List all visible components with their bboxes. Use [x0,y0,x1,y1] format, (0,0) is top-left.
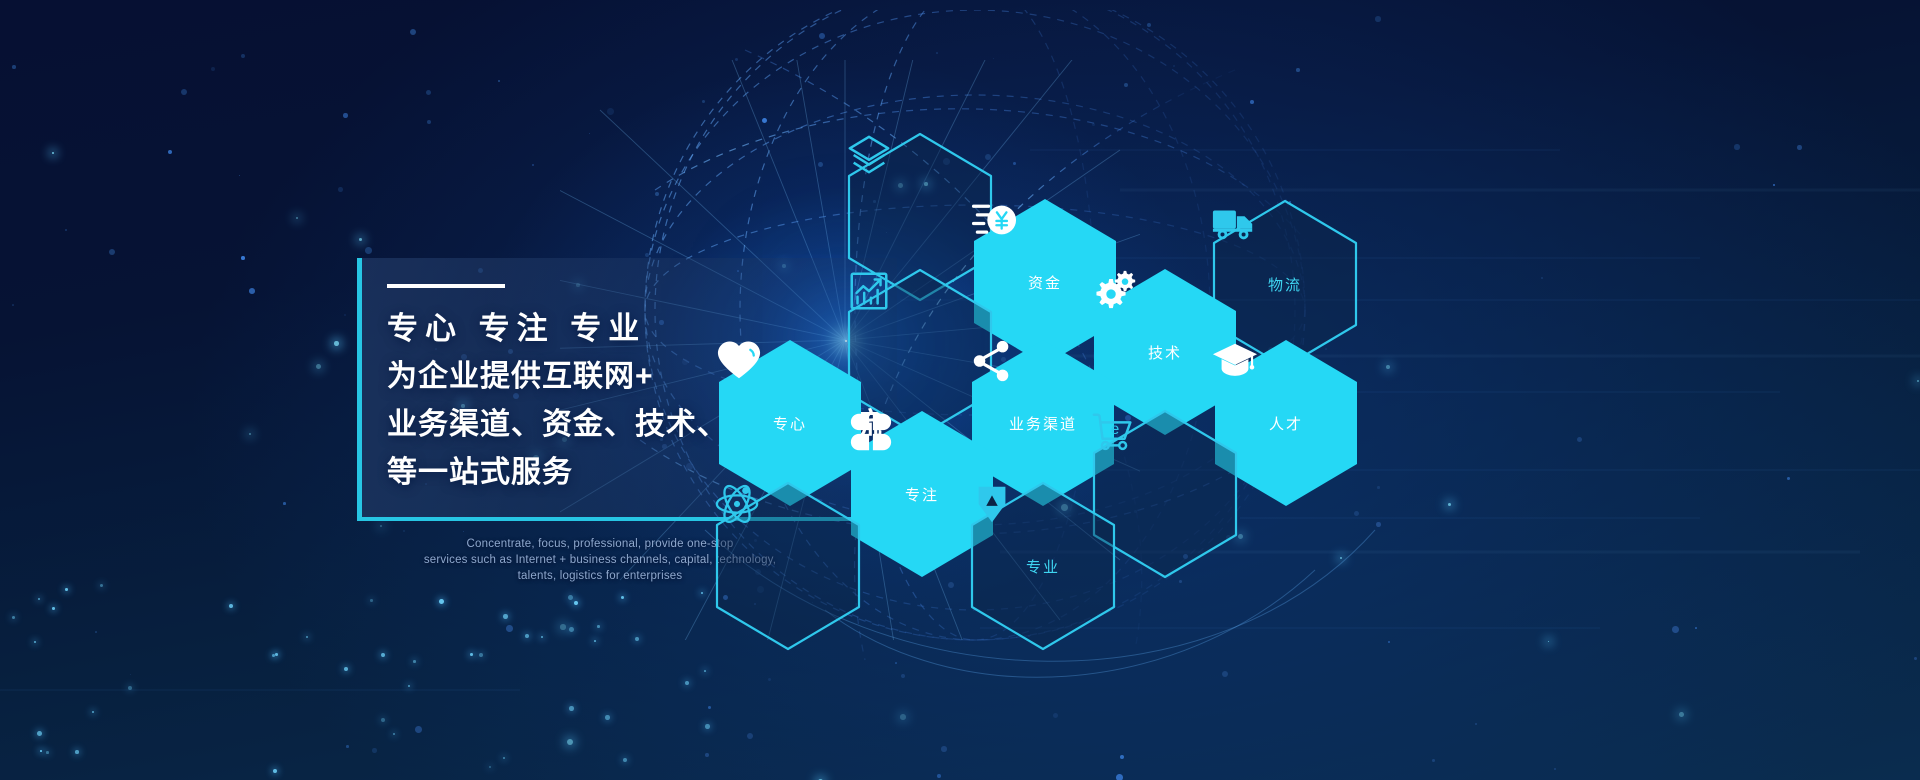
atom-icon [714,481,760,527]
banner-hero: 专心 专注 专业 为企业提供互联网+ 业务渠道、资金、技术、人才、物流 等一站式… [0,0,1920,780]
hexagon-cluster: 资金物流技术专心业务渠道人才专注专业 [0,0,1920,780]
share-nodes-icon [969,338,1015,384]
hexagon-label: 技术 [1148,342,1182,363]
clover-icon [848,409,894,455]
hexagon-label: 专心 [773,413,807,434]
hexagon-label: 专注 [905,484,939,505]
layers-icon [846,132,892,178]
gears-icon [1091,267,1137,313]
graduation-cap-icon [1212,338,1258,384]
diamond-icon [969,481,1015,527]
hexagon-atom[interactable] [714,481,862,651]
bar-chart-icon [846,268,892,314]
heart-icon [716,338,762,384]
truck-icon [1211,199,1257,245]
hexagon-label: 人才 [1269,413,1303,434]
hexagon-label: 业务渠道 [1009,413,1077,434]
hexagon-zhuanye[interactable]: 专业 [969,481,1117,651]
hexagon-label: 物流 [1268,274,1302,295]
ecommerce-cart-icon [1091,409,1137,455]
hexagon-label: 资金 [1028,272,1062,293]
hexagon-label: 专业 [1026,556,1060,577]
money-yen-icon [971,197,1017,243]
